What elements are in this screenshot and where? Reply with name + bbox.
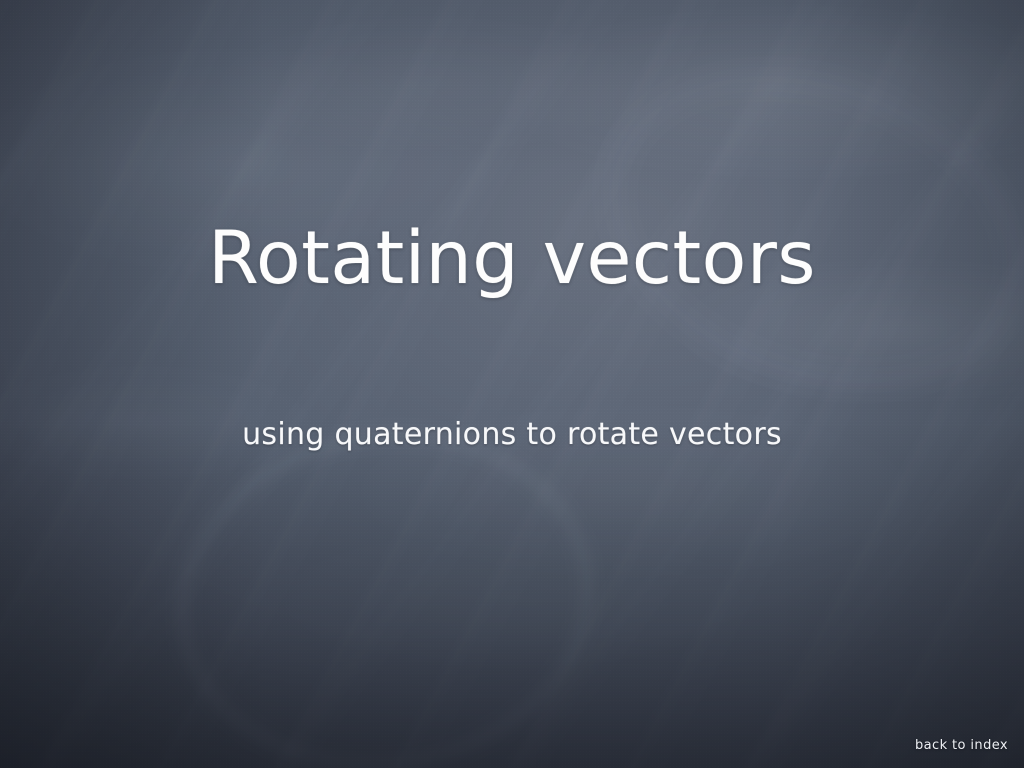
slide-subtitle: using quaternions to rotate vectors [0,415,1024,455]
chalkboard-slide: Rotating vectors using quaternions to ro… [0,0,1024,768]
back-to-index-link[interactable]: back to index [913,735,1010,757]
page-title: Rotating vectors [0,216,1024,302]
slide-content: Rotating vectors using quaternions to ro… [0,0,1024,768]
